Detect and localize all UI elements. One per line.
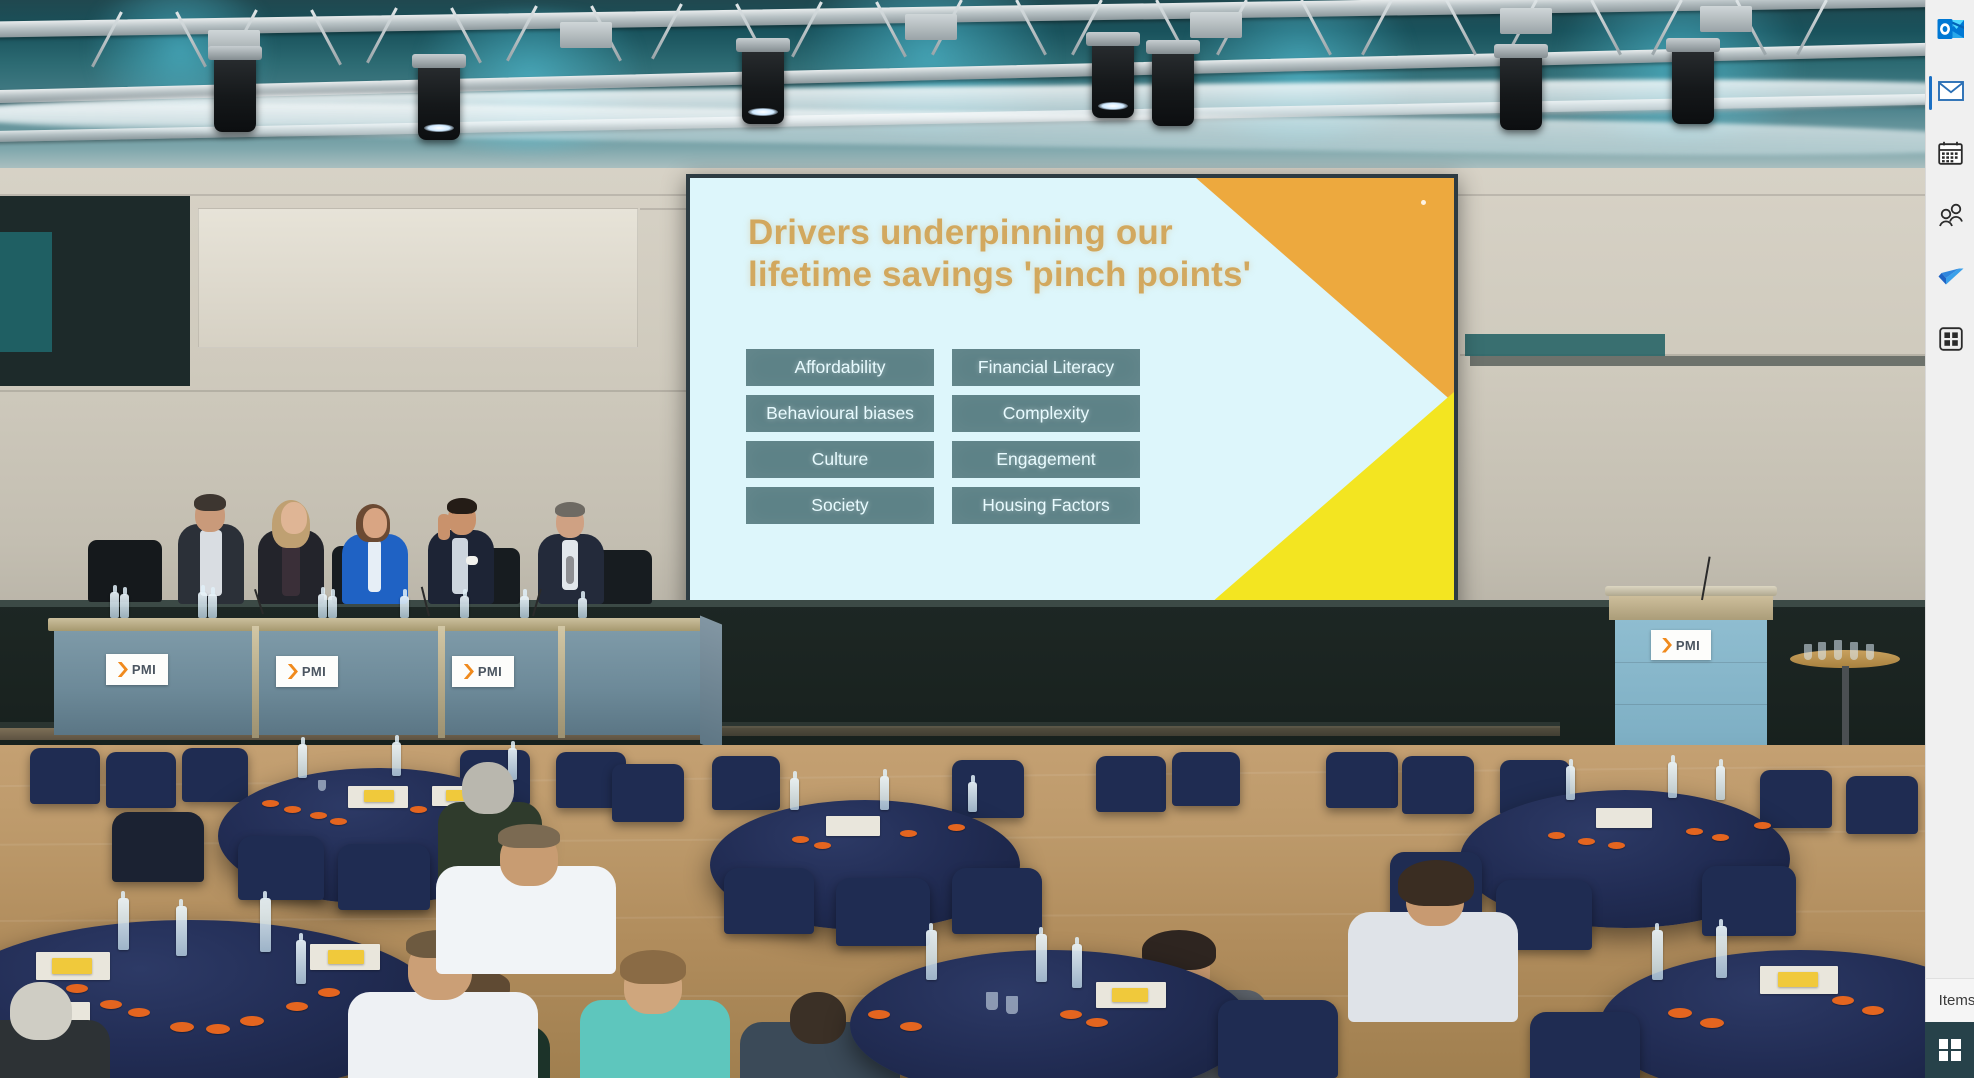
stage-light [742,46,784,124]
pmi-logo-text: PMI [478,664,502,679]
slide-title-line-2: lifetime savings 'pinch points' [748,254,1308,296]
sidebar-item-calendar[interactable] [1926,124,1974,186]
windows-start-icon[interactable] [1939,1039,1961,1061]
sidebar-item-more-apps[interactable] [1926,310,1974,372]
pmi-chevron-icon [464,664,475,679]
stage-light [214,54,256,132]
driver-box-behavioural-biases: Behavioural biases [746,395,934,432]
sidebar-item-outlook-logo[interactable] [1926,0,1974,62]
stage-light [1092,40,1134,118]
stage-light [418,62,460,140]
pmi-logo-text: PMI [302,664,326,679]
apps-grid-icon [1939,327,1963,356]
stage-light [1500,52,1542,130]
panel-desk: PMI PMI PMI [48,618,703,748]
slide-dot [1421,200,1426,205]
outlook-module-sidebar[interactable] [1925,0,1974,978]
pmi-logo-plate: PMI [276,656,338,687]
people-icon [1937,203,1965,232]
mail-icon [1938,81,1964,106]
slide-title: Drivers underpinning our lifetime saving… [748,212,1308,295]
ceiling-lighting-rig [0,0,1925,175]
drivers-box-grid: Affordability Financial Literacy Behavio… [746,349,1140,524]
pmi-chevron-icon [118,662,129,677]
sidebar-item-people[interactable] [1926,186,1974,248]
stage-light [1152,48,1194,126]
driver-box-housing-factors: Housing Factors [952,487,1140,524]
status-bar: Items [1925,978,1974,1022]
driver-box-culture: Culture [746,441,934,478]
conference-video-pane[interactable]: Drivers underpinning our lifetime saving… [0,0,1925,1078]
checkmark-icon [1937,266,1965,293]
pmi-logo-plate: PMI [1651,630,1711,660]
driver-box-society: Society [746,487,934,524]
status-bar-items-label: Items [1925,992,1974,1009]
presentation-slide: Drivers underpinning our lifetime saving… [690,178,1454,616]
pmi-chevron-icon [288,664,299,679]
pmi-logo-text: PMI [132,662,156,677]
outlook-logo-icon [1937,16,1965,47]
pmi-chevron-icon [1662,638,1673,653]
sidebar-item-todo[interactable] [1926,248,1974,310]
pmi-logo-text: PMI [1676,638,1700,653]
windows-taskbar[interactable] [1925,1022,1974,1078]
stage-light [1672,46,1714,124]
driver-box-engagement: Engagement [952,441,1140,478]
slide-title-line-1: Drivers underpinning our [748,212,1308,254]
screen-root: Drivers underpinning our lifetime saving… [0,0,1974,1078]
calendar-icon [1938,141,1963,170]
pmi-logo-plate: PMI [106,654,168,685]
pmi-logo-plate: PMI [452,656,514,687]
driver-box-complexity: Complexity [952,395,1140,432]
driver-box-affordability: Affordability [746,349,934,386]
projection-screen: Drivers underpinning our lifetime saving… [686,174,1458,620]
sidebar-item-mail[interactable] [1926,62,1974,124]
slide-accent-yellow-triangle [1196,392,1454,616]
driver-box-financial-literacy: Financial Literacy [952,349,1140,386]
